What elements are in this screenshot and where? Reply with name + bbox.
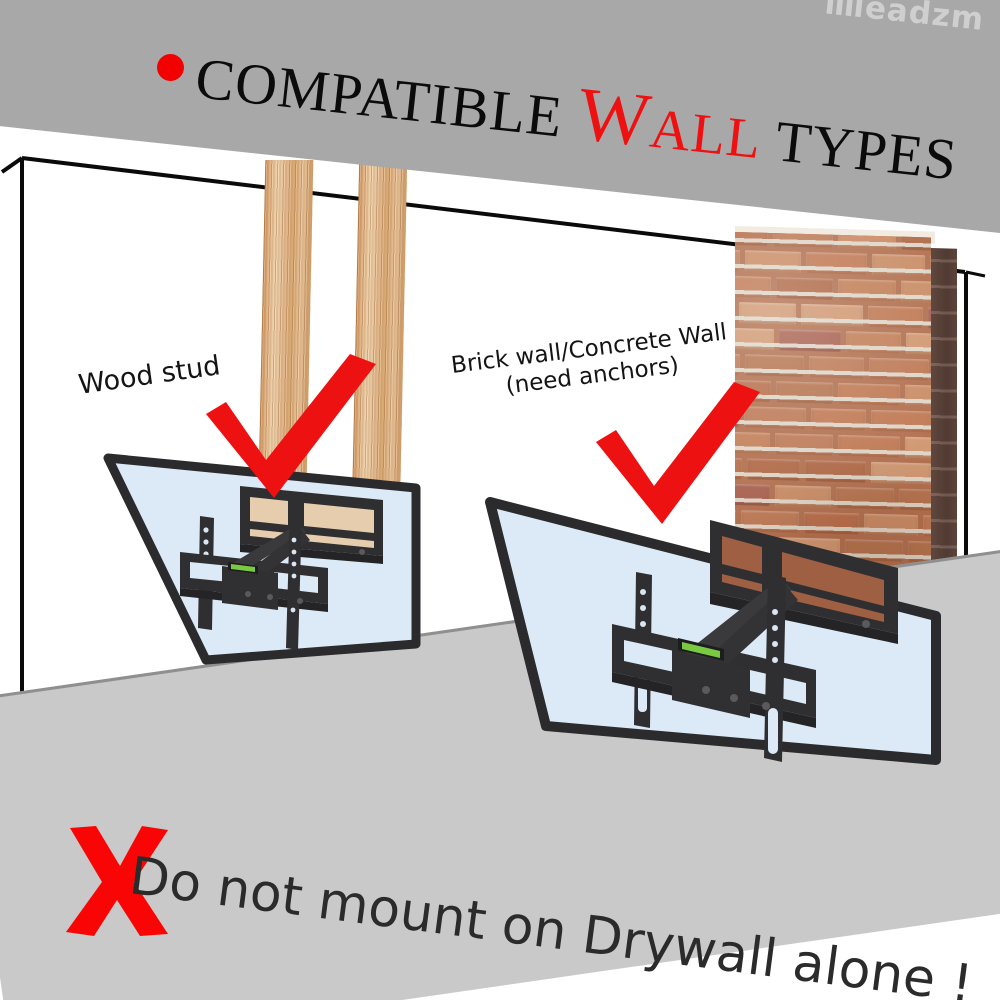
tv-mount-bracket-right <box>610 512 920 782</box>
red-check-icon-right <box>592 382 762 527</box>
title-highlight-w: W <box>574 72 655 163</box>
red-dot-icon <box>157 54 184 81</box>
title-highlight-all: ALL <box>647 98 765 172</box>
red-check-icon-left <box>200 352 380 502</box>
logo-bars-icon: ıll <box>823 0 855 24</box>
infographic-canvas: Wood stud Brick wall/Concrete Wall (need… <box>0 0 1000 1000</box>
